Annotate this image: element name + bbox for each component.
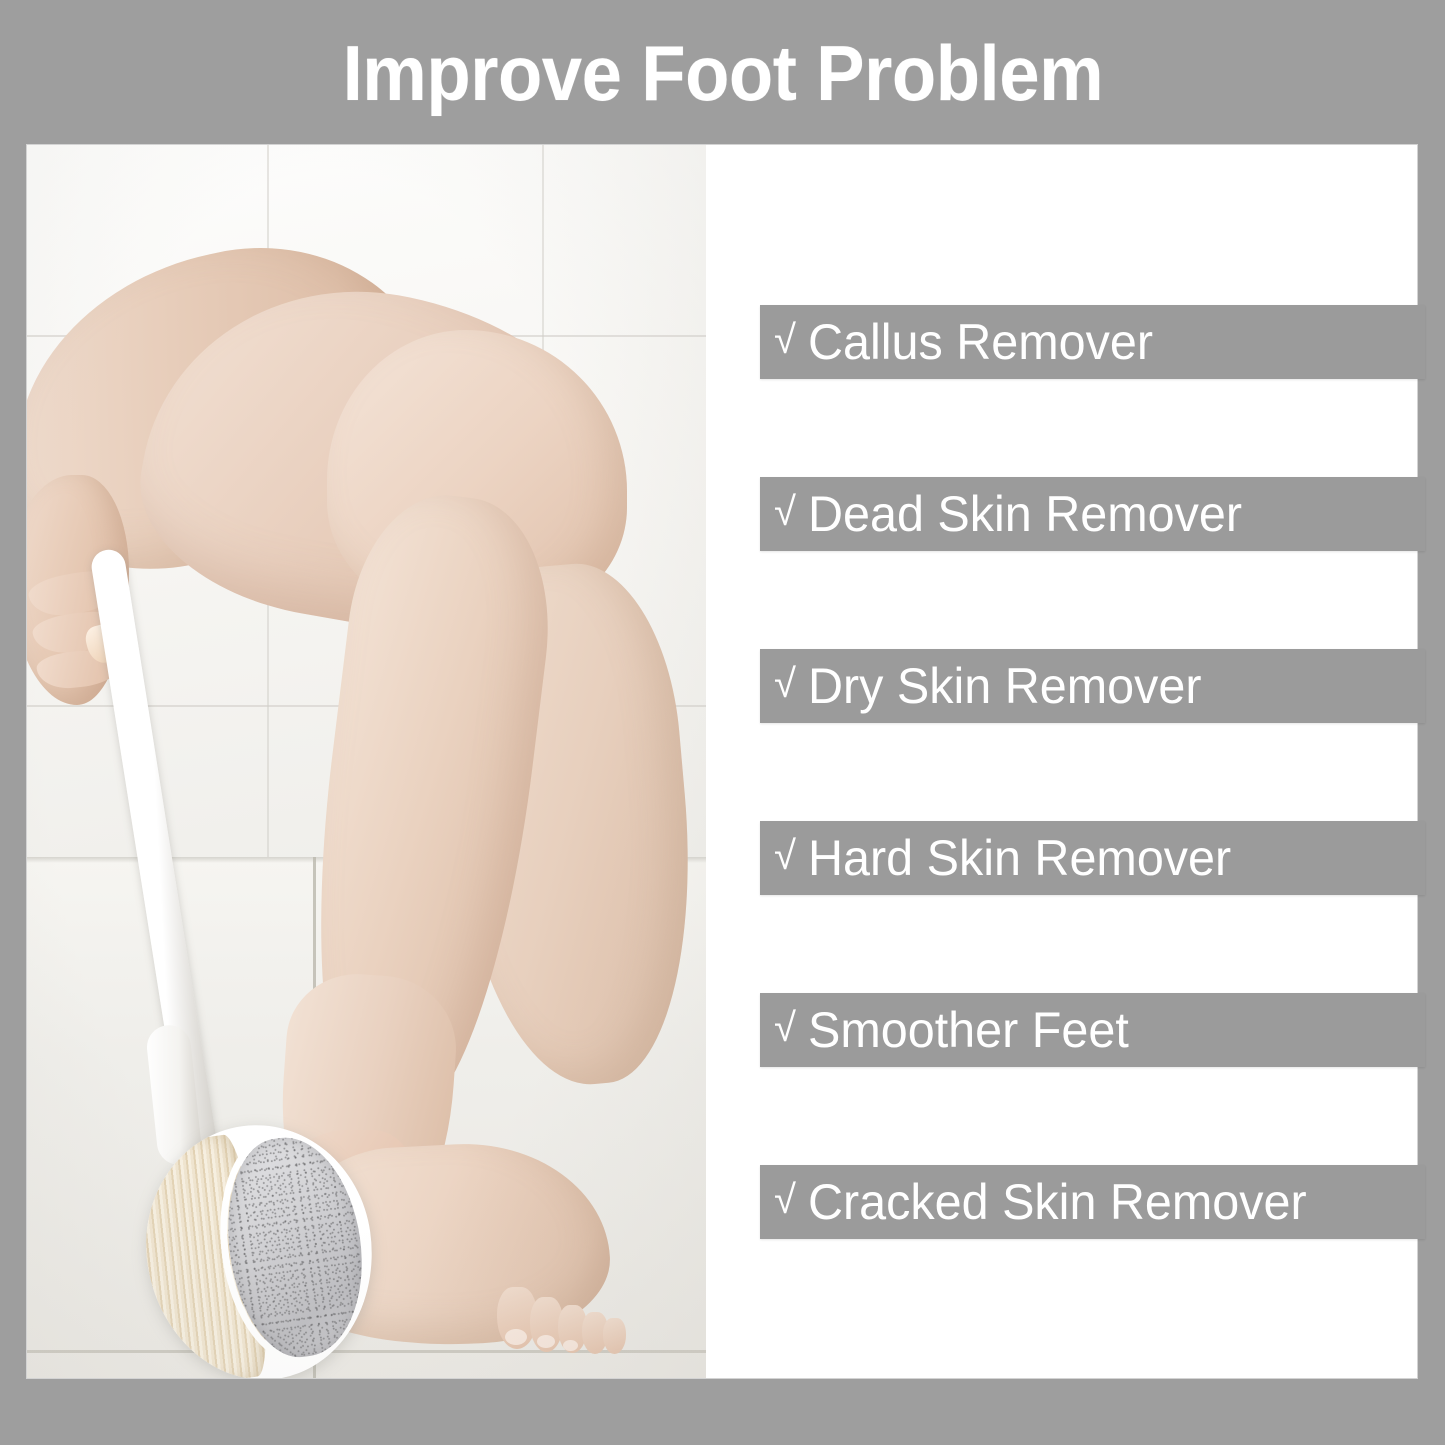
feature-badge: √ Smoother Feet xyxy=(760,993,1425,1067)
feature-label: Cracked Skin Remover xyxy=(808,1177,1307,1227)
feature-badge: √ Callus Remover xyxy=(760,305,1425,379)
feature-label: Dry Skin Remover xyxy=(808,661,1201,711)
check-icon: √ xyxy=(774,320,796,360)
check-icon: √ xyxy=(774,836,796,876)
feature-badge: √ Hard Skin Remover xyxy=(760,821,1425,895)
product-photo xyxy=(27,145,706,1378)
foot-toes xyxy=(497,1285,632,1357)
check-icon: √ xyxy=(774,492,796,532)
toenail xyxy=(505,1329,527,1345)
check-icon: √ xyxy=(774,1180,796,1220)
feature-label: Smoother Feet xyxy=(808,1005,1129,1055)
feature-badge: √ Cracked Skin Remover xyxy=(760,1165,1425,1239)
feature-badge: √ Dry Skin Remover xyxy=(760,649,1425,723)
feature-badge: √ Dead Skin Remover xyxy=(760,477,1425,551)
feature-label: Dead Skin Remover xyxy=(808,489,1242,539)
toenail xyxy=(563,1340,578,1351)
feature-label: Callus Remover xyxy=(808,317,1153,367)
title-bar: Improve Foot Problem xyxy=(0,0,1445,145)
check-icon: √ xyxy=(774,1008,796,1048)
feature-label: Hard Skin Remover xyxy=(808,833,1231,883)
toenail xyxy=(537,1335,555,1348)
content-panel: √ Callus Remover √ Dead Skin Remover √ D… xyxy=(27,145,1417,1378)
check-icon: √ xyxy=(774,664,796,704)
product-infographic: Improve Foot Problem xyxy=(0,0,1445,1445)
toe xyxy=(603,1318,626,1354)
feature-list: √ Callus Remover √ Dead Skin Remover √ D… xyxy=(706,145,1417,1378)
page-title: Improve Foot Problem xyxy=(342,34,1103,112)
